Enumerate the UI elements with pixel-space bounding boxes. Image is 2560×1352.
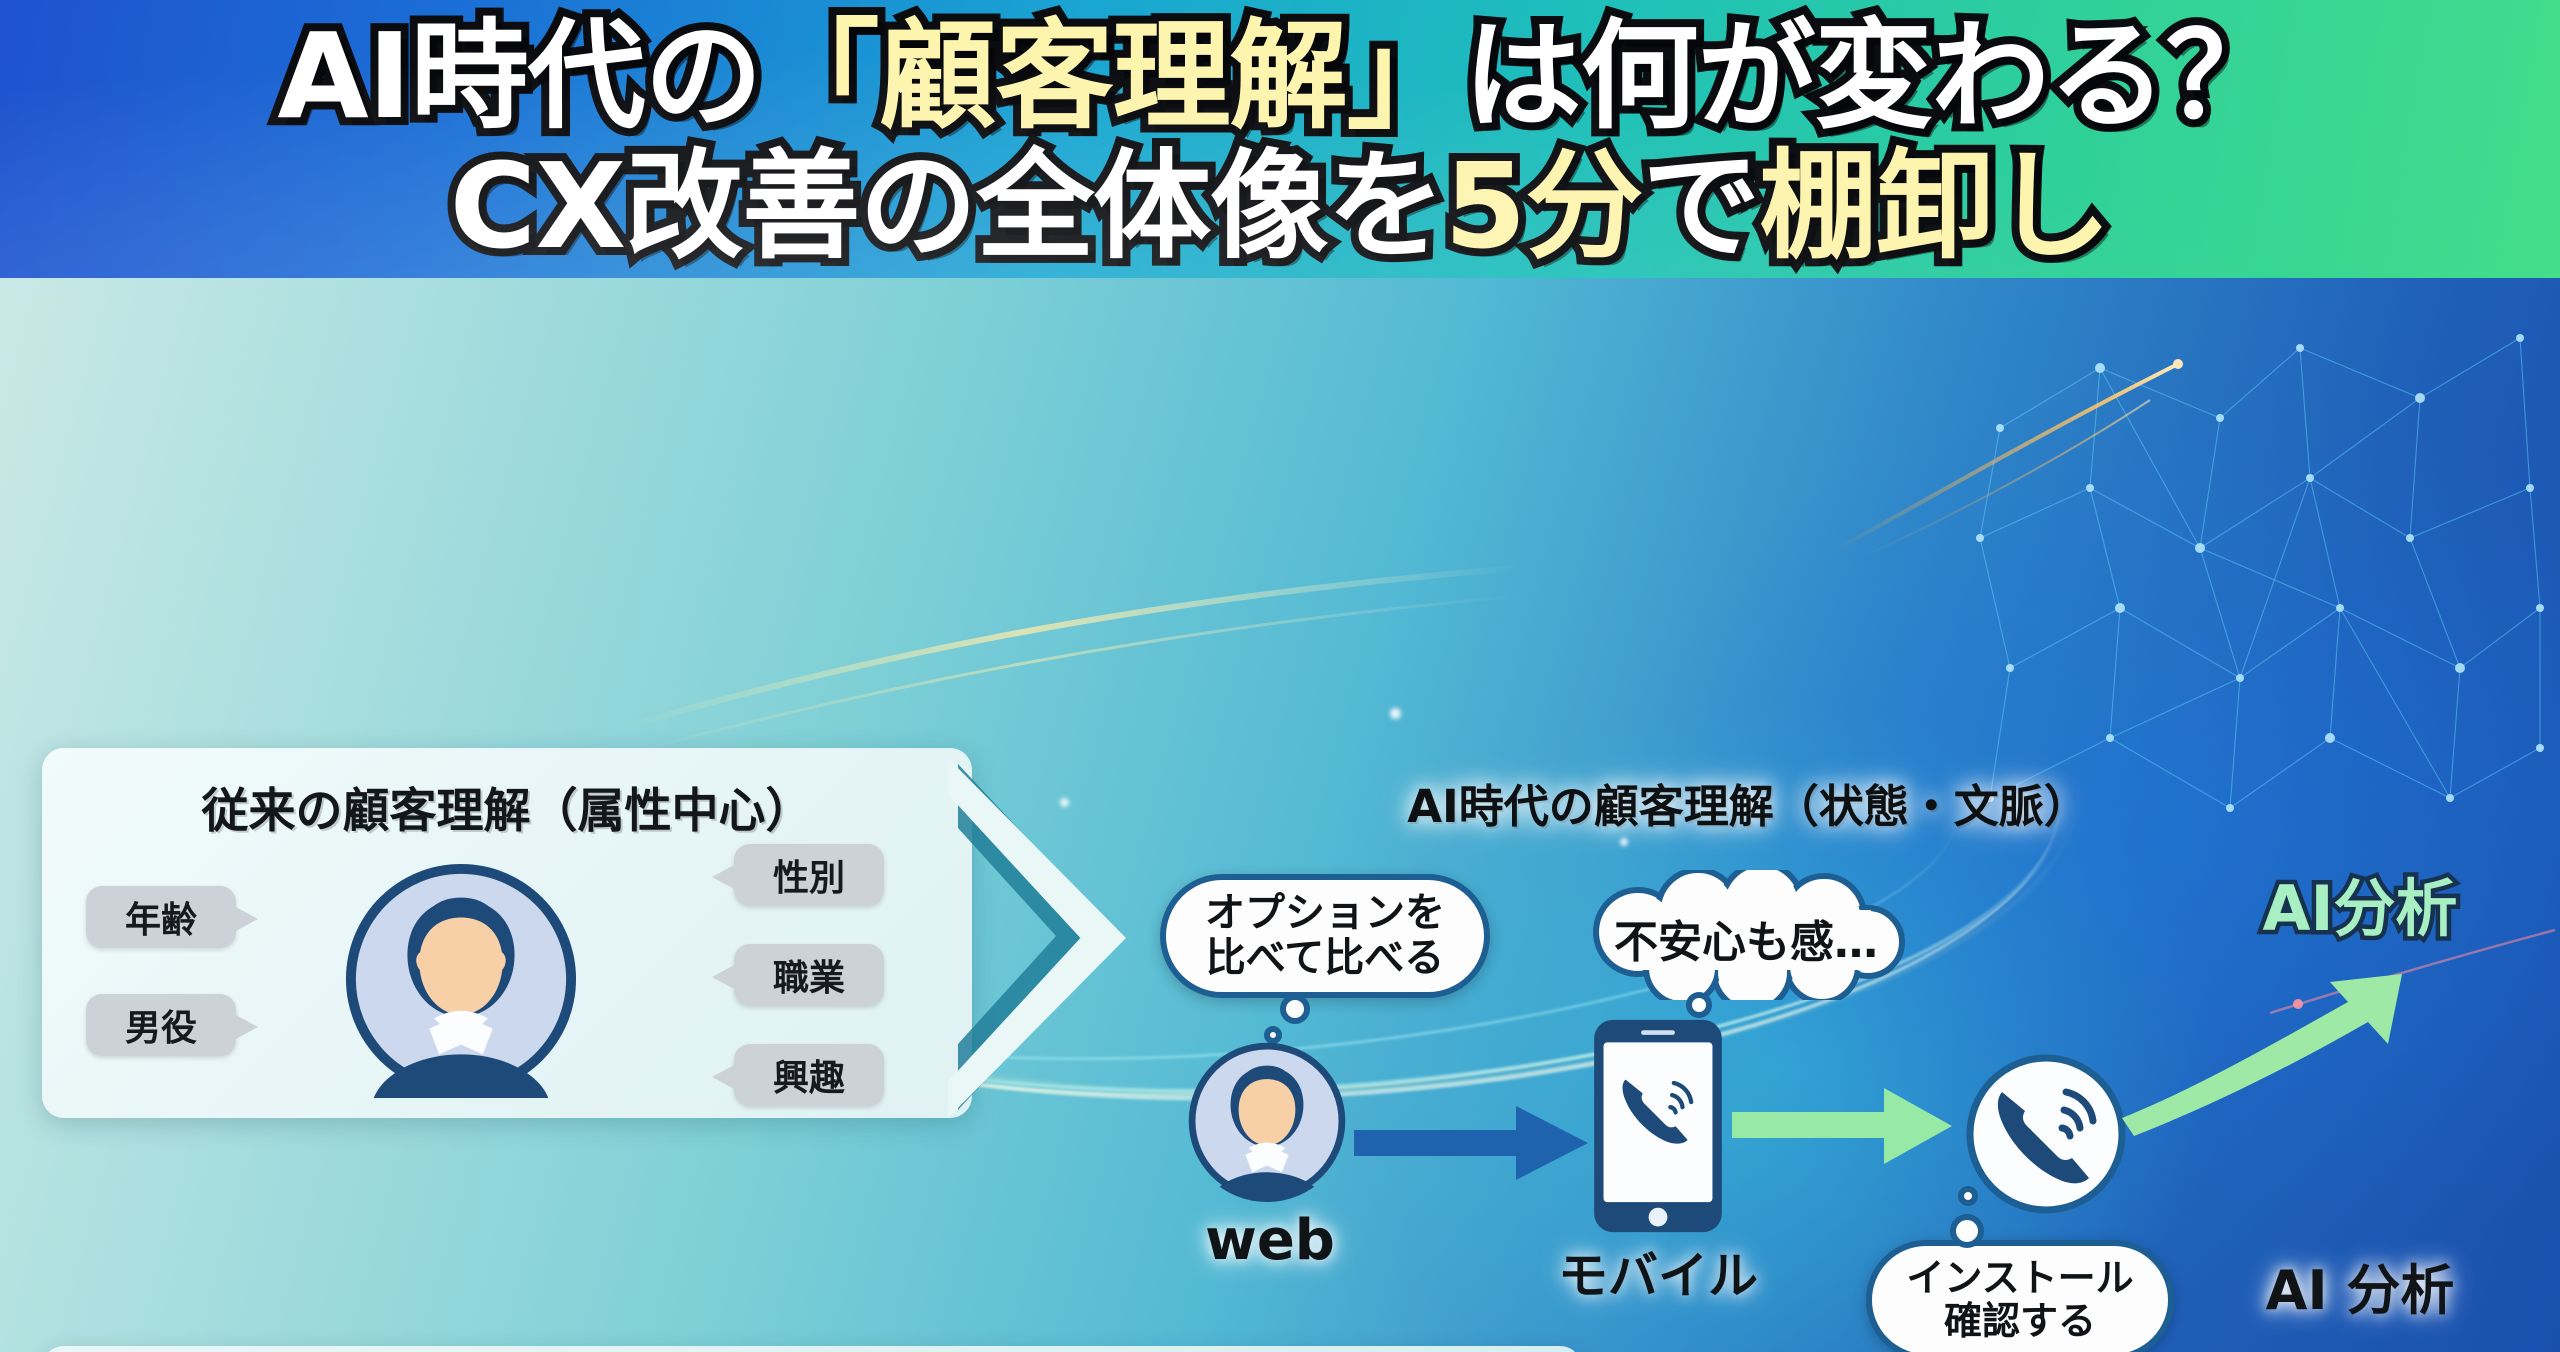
cx-roadmap-card: CX改善の全体像（地図） 理解 設計 運用 — [42, 1346, 1582, 1352]
channel-web-avatar-icon — [1186, 1040, 1348, 1202]
attribute-tag-interest: 興趣 — [734, 1044, 884, 1106]
attribute-tag-role: 男役 — [86, 994, 236, 1056]
arrow-call-to-ai-icon — [2116, 968, 2406, 1138]
ai-understanding-title: AI時代の顧客理解（状態・文脈） — [1278, 770, 2218, 835]
bubble-tail-icon — [1950, 1214, 1984, 1248]
legacy-understanding-card: 従来の顧客理解（属性中心） 年齢 男役 性別 — [42, 748, 972, 1118]
headline1-part3: は何が変わる？ — [1464, 16, 2283, 136]
header-band: AI時代の「顧客理解」は何が変わる？ CX改善の全体像を5分で棚卸し — [0, 0, 2560, 278]
comet-streak-icon — [1820, 338, 2200, 568]
headline2-part1: CX改善の全体像を — [450, 146, 1445, 266]
bubble-options: オプションを 比べて比べる — [1160, 874, 1490, 998]
customer-avatar-icon — [342, 860, 580, 1098]
thumbnail-canvas: AI時代の「顧客理解」は何が変わる？ CX改善の全体像を5分で棚卸し — [0, 0, 2560, 1352]
bubble-line: 比べて比べる — [1206, 936, 1444, 981]
headline-line-2: CX改善の全体像を5分で棚卸し — [0, 146, 2560, 266]
attribute-tag-label: 男役 — [125, 999, 197, 1051]
headline1-part2: 「顧客理解」 — [762, 16, 1464, 136]
channel-call-phone-icon — [1966, 1054, 2126, 1214]
headline2-part3: で — [1642, 146, 1759, 266]
headline2-part4: 棚卸し — [1759, 146, 2110, 266]
attribute-tag-occupation: 職業 — [734, 944, 884, 1006]
attribute-tag-gender: 性別 — [734, 844, 884, 906]
bubble-tail-icon — [1280, 994, 1310, 1024]
arrow-mobile-to-call-icon — [1726, 1078, 1966, 1168]
ai-analysis-bottom-label: AI 分析 — [2190, 1246, 2530, 1325]
headline2-part2: 5分 — [1444, 146, 1642, 266]
attribute-tag-label: 性別 — [773, 849, 845, 901]
bubble-line: 確認する — [1944, 1300, 2096, 1343]
ai-analysis-top-label: AI分析 — [2180, 858, 2540, 948]
channel-web-label: web — [1150, 1208, 1390, 1273]
legacy-card-title: 従来の顧客理解（属性中心） — [42, 772, 972, 841]
bubble-tail-icon — [1958, 1186, 1978, 1206]
attribute-tag-label: 年齢 — [125, 891, 197, 943]
headline1-part1: AI時代の — [277, 16, 761, 136]
sparkle-icon — [1620, 838, 1628, 846]
body-background: 従来の顧客理解（属性中心） 年齢 男役 性別 — [0, 278, 2560, 1352]
chevron-right-icon — [948, 758, 1178, 1118]
bubble-anxiety-label: 不安心も感… — [1566, 906, 1926, 970]
channel-mobile-smartphone-icon — [1592, 1018, 1724, 1234]
arrow-web-to-mobile-icon — [1348, 1098, 1598, 1188]
bubble-line: オプションを — [1205, 891, 1445, 936]
bubble-line: インストール — [1906, 1257, 2133, 1300]
attribute-tag-age: 年齢 — [86, 886, 236, 948]
attribute-tag-label: 職業 — [773, 949, 845, 1001]
attribute-tag-label: 興趣 — [773, 1049, 845, 1101]
channel-mobile-label: モバイル — [1528, 1236, 1788, 1308]
bubble-tail-icon — [1686, 992, 1712, 1018]
headline-line-1: AI時代の「顧客理解」は何が変わる？ — [0, 16, 2560, 136]
bubble-install: インストール 確認する — [1866, 1240, 2174, 1352]
